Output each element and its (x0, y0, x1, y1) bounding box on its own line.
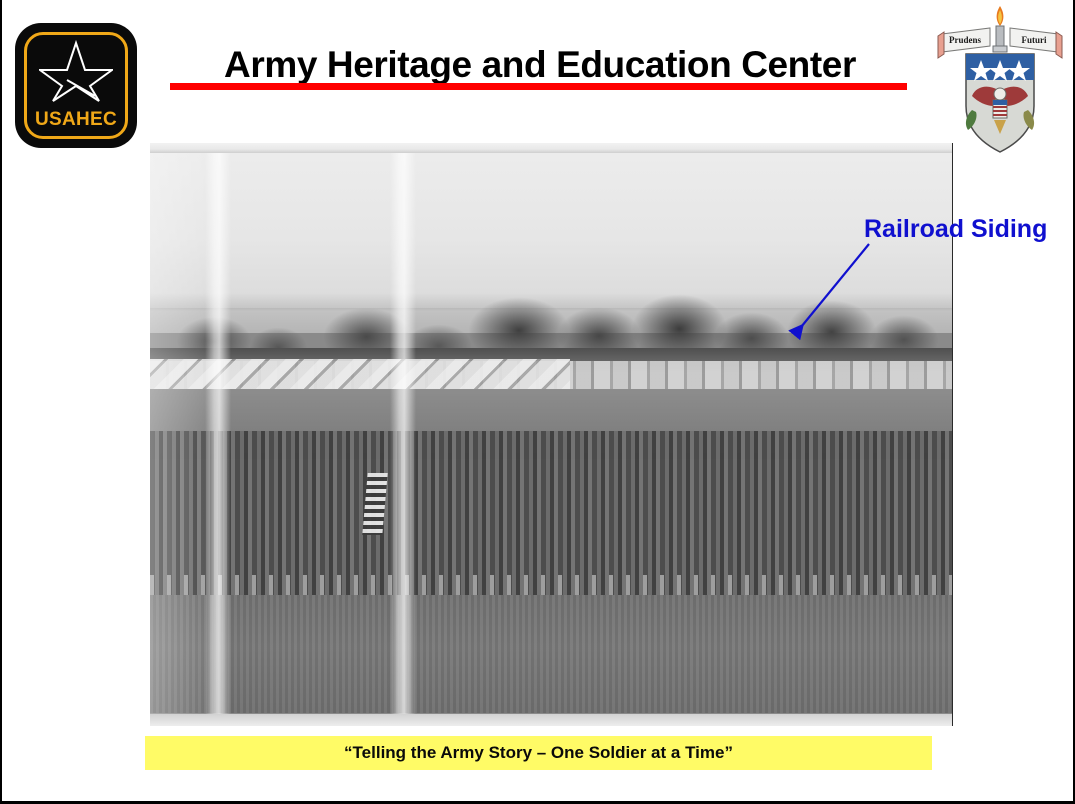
svg-text:Prudens: Prudens (949, 35, 982, 45)
svg-text:Futuri: Futuri (1021, 35, 1047, 45)
torch-icon (993, 6, 1007, 52)
photo-top-edge (150, 143, 952, 153)
photo-bottom-edge (150, 714, 952, 726)
historic-camp-panorama (150, 143, 953, 726)
photo-foreground-grass (150, 595, 952, 713)
page-title: Army Heritage and Education Center (170, 44, 910, 86)
railroad-siding-label: Railroad Siding (864, 215, 1047, 244)
photo-sky (150, 153, 952, 308)
army-war-college-crest: Prudens Futuri (932, 2, 1068, 157)
star-icon (39, 40, 113, 104)
caption-bar: “Telling the Army Story – One Soldier at… (145, 736, 932, 770)
usahec-logo: USAHEC (15, 23, 137, 148)
photo-soldier-formation (150, 431, 952, 601)
title-underline-rule (170, 83, 907, 90)
caption-text: “Telling the Army Story – One Soldier at… (344, 743, 733, 763)
slide: USAHEC Army Heritage and Education Cente… (0, 0, 1075, 804)
usahec-logo-text: USAHEC (15, 109, 137, 131)
